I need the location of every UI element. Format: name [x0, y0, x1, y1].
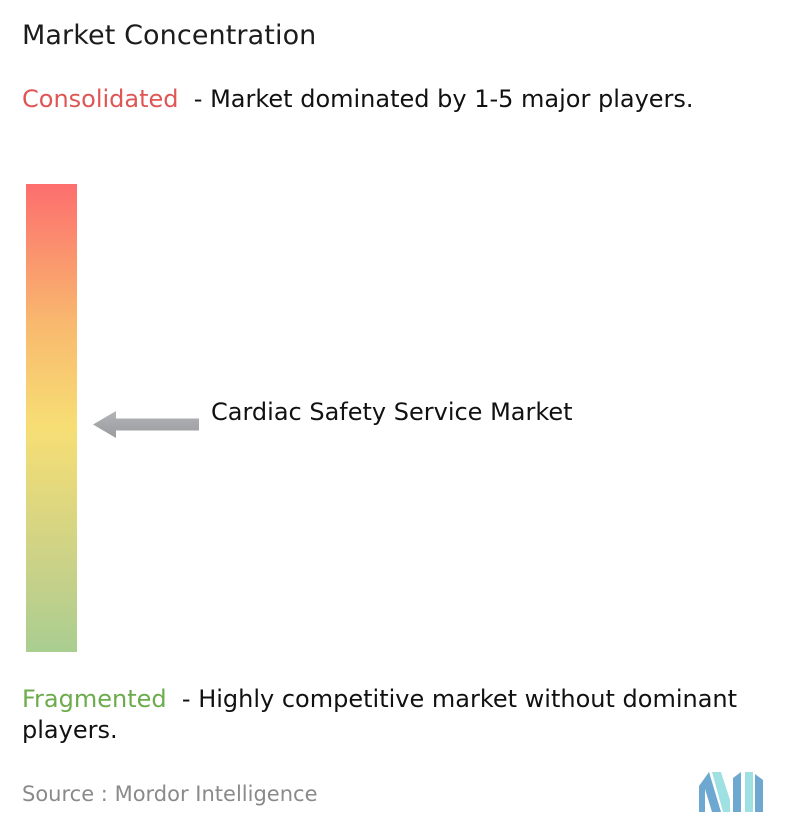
market-position-label: Cardiac Safety Service Market: [211, 394, 641, 430]
legend-consolidated: Consolidated - Market dominated by 1-5 m…: [22, 84, 774, 115]
source-attribution: Source : Mordor Intelligence: [22, 781, 317, 808]
market-concentration-chart: Market Concentration Consolidated - Mark…: [0, 0, 796, 834]
source-label: Source :: [22, 782, 108, 806]
legend-consolidated-description: - Market dominated by 1-5 major players.: [194, 85, 694, 113]
mordor-intelligence-logo-icon: [699, 772, 763, 812]
legend-consolidated-term: Consolidated: [22, 85, 179, 113]
page-title: Market Concentration: [22, 19, 316, 53]
legend-fragmented-term: Fragmented: [22, 685, 167, 713]
legend-fragmented: Fragmented - Highly competitive market w…: [22, 684, 788, 746]
concentration-gradient-bar: [26, 184, 77, 652]
market-position-arrow: [93, 406, 199, 443]
source-value: Mordor Intelligence: [115, 782, 318, 806]
legend-consolidated-spacer: [179, 85, 194, 113]
legend-fragmented-spacer: [167, 685, 182, 713]
